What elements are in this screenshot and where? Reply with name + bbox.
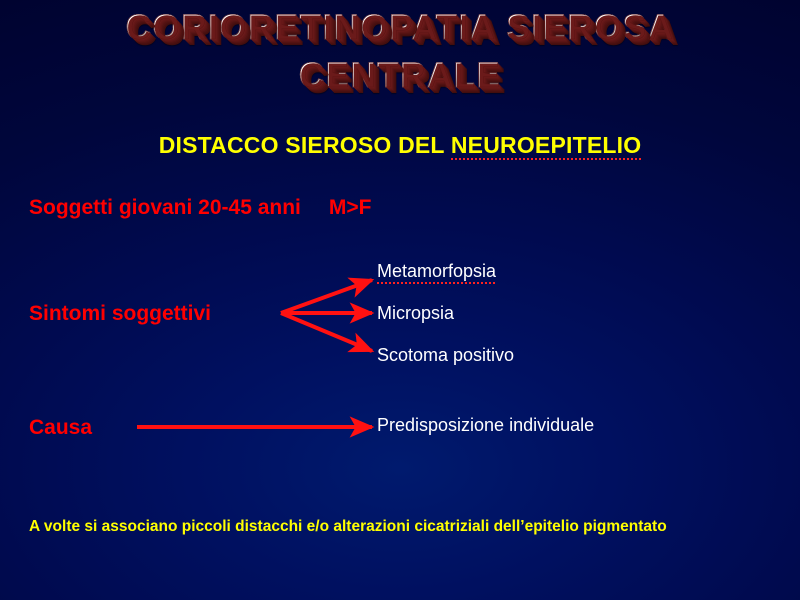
row-label-causa: Causa bbox=[29, 416, 92, 440]
slide-canvas: CORIORETINOPATIA SIEROSA CENTRALE DISTAC… bbox=[0, 0, 800, 600]
page-title-line-1: CORIORETINOPATIA SIEROSA bbox=[126, 8, 675, 48]
row-label-soggetti-ratio: M>F bbox=[329, 196, 372, 219]
list-item: Metamorfopsia bbox=[377, 261, 496, 282]
title-line-2-wrap: CENTRALE bbox=[0, 56, 800, 96]
footnote-text: A volte si associano piccoli distacchi e… bbox=[29, 516, 751, 538]
page-title-line-2: CENTRALE bbox=[299, 56, 502, 96]
symptom-metamorfopsia: Metamorfopsia bbox=[377, 261, 496, 282]
subtitle: DISTACCO SIEROSO DEL NEUROEPITELIO bbox=[0, 132, 800, 159]
title-line-1-wrap: CORIORETINOPATIA SIEROSA bbox=[0, 8, 800, 48]
subtitle-prefix: DISTACCO SIEROSO DEL bbox=[159, 132, 451, 158]
row-label-sintomi-soggettivi: Sintomi soggettivi bbox=[29, 302, 211, 326]
cause-predisposizione-individuale: Predisposizione individuale bbox=[377, 415, 594, 436]
subtitle-misspelled-word: NEUROEPITELIO bbox=[451, 132, 641, 159]
row-label-soggetti-text: Soggetti giovani 20-45 anni bbox=[29, 196, 301, 219]
row-label-soggetti: Soggetti giovani 20-45 anniM>F bbox=[29, 196, 371, 220]
symptom-scotoma-positivo: Scotoma positivo bbox=[377, 345, 514, 366]
symptom-arrow-2 bbox=[281, 313, 372, 351]
symptom-arrow-0 bbox=[281, 280, 372, 313]
symptom-micropsia: Micropsia bbox=[377, 303, 454, 324]
